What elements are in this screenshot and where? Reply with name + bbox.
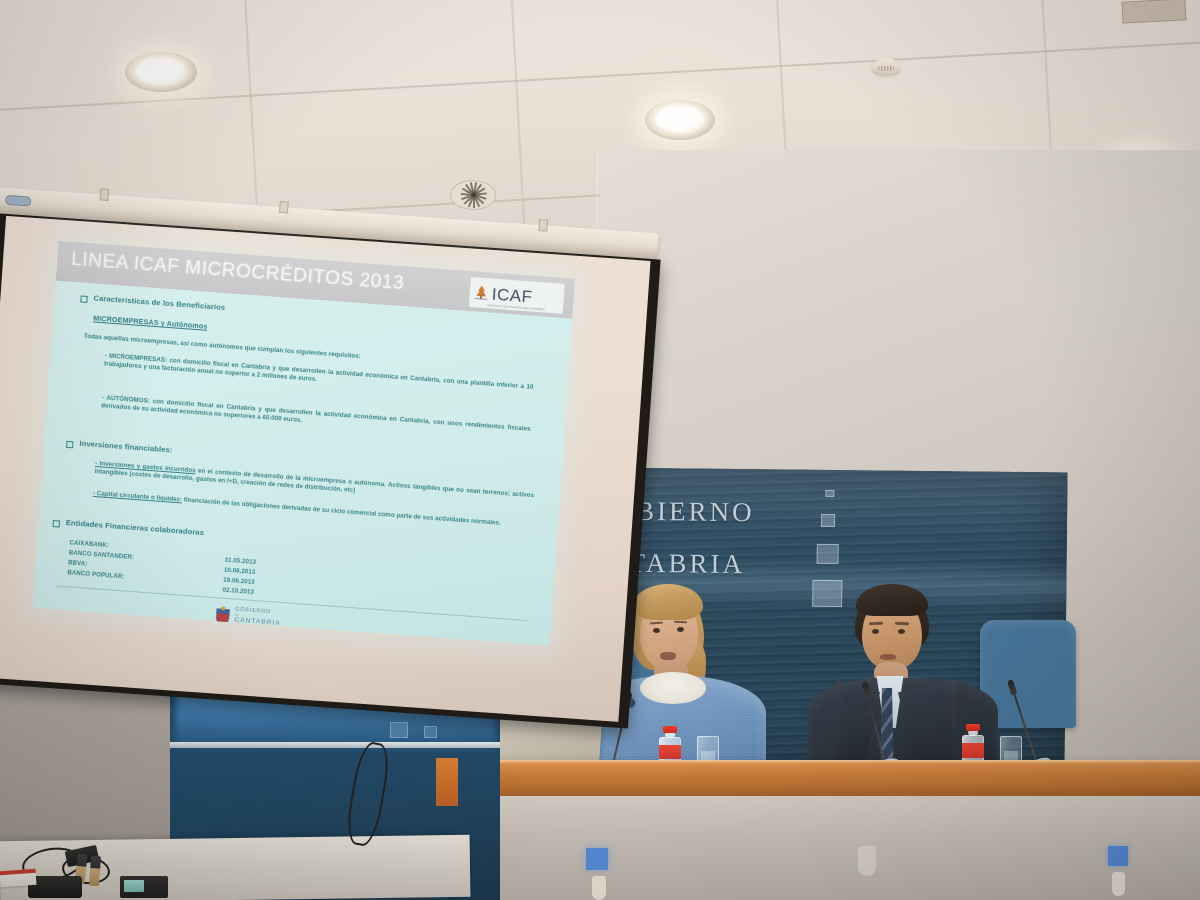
table-edge-highlight — [436, 760, 1200, 764]
ceiling-downlight — [645, 100, 715, 140]
bullet-label: Entidades Financieras colaboradoras — [66, 518, 205, 537]
roller-bracket — [538, 219, 548, 232]
table-emblem-crest — [592, 876, 606, 900]
pine-tree-icon — [473, 284, 489, 302]
woman-eye-right — [677, 627, 684, 632]
blue-panel-rail — [170, 742, 500, 748]
slide-paragraph-autonomos: - AUTÓNOMOS: con domicilio fiscal en Can… — [101, 394, 531, 442]
bank-date: 02.10.2013 — [222, 585, 254, 597]
press-conference-photo: GOBIERNO CANTABRIA — [0, 0, 1200, 900]
presenters-table-top — [436, 760, 1200, 796]
man-eyebrow-right — [895, 622, 909, 625]
smoke-detector-icon — [872, 58, 900, 74]
bullet-square-icon — [66, 441, 73, 448]
slide-body: Características de los Beneficiarios MIC… — [33, 281, 572, 646]
entity-bank-dates: 31.05.2013 10.06.2013 19.06.2013 02.10.2… — [222, 556, 256, 598]
table-emblem-crest — [858, 846, 876, 876]
bullet-square-icon — [53, 520, 60, 527]
entity-bank-names: CAIXABANK: BANCO SANTANDER: BBVA: BANCO … — [67, 538, 135, 582]
slide-bullet-entidades: Entidades Financieras colaboradoras — [53, 517, 205, 538]
blue-panel-square — [424, 726, 437, 738]
papers-stack — [0, 869, 37, 887]
slide-bullet-inversiones: Inversiones financiables: — [66, 438, 173, 456]
projection-screen-assembly: LINEA ICAF MICROCRÉDITOS 2013 ICAF INSTI… — [0, 188, 678, 741]
blue-panel-square — [390, 722, 408, 738]
slide-paragraph-microempresas: - MICROEMPRESAS: con domicilio fiscal en… — [104, 352, 534, 400]
backdrop-square — [821, 514, 835, 527]
investment-lead-2: - Capital circulante o liquidez: — [93, 490, 183, 504]
slide-subheading-microempresas: MICROEMPRESAS y Autónomos — [93, 313, 208, 330]
man-eye-right — [898, 629, 905, 634]
equipment-orange-box — [436, 758, 458, 806]
backdrop-square — [812, 580, 842, 607]
roller-bracket — [99, 188, 109, 201]
backdrop-square — [817, 544, 839, 564]
bullet-label: Características de los Beneficiarios — [93, 293, 225, 312]
presenters-table-front-panel — [436, 796, 1200, 900]
woman-mouth — [660, 652, 676, 660]
roller-end-cap — [5, 195, 32, 207]
table-emblem-crest — [1112, 872, 1125, 896]
woman-eye-left — [653, 628, 660, 633]
icaf-logo-text: ICAF — [491, 285, 533, 305]
table-emblem-blue — [1108, 846, 1128, 866]
ceiling-downlight — [125, 52, 197, 92]
bullet-label: Inversiones financiables: — [79, 439, 173, 455]
table-emblem-blue — [586, 848, 608, 870]
man-eye-left — [872, 629, 879, 634]
roller-bracket — [279, 201, 289, 214]
woman-shirt-collar — [640, 672, 706, 704]
backdrop-square — [825, 490, 834, 497]
slide-bullet-beneficiarios: Características de los Beneficiarios — [80, 292, 225, 313]
bullet-square-icon — [80, 295, 87, 302]
ceiling-access-hatch — [1121, 0, 1186, 24]
man-mouth — [880, 654, 896, 660]
projected-slide: LINEA ICAF MICROCRÉDITOS 2013 ICAF INSTI… — [33, 241, 575, 646]
presentation-remote[interactable] — [120, 876, 168, 898]
xlr-connector — [89, 856, 101, 887]
ceiling-air-vent — [450, 180, 496, 210]
